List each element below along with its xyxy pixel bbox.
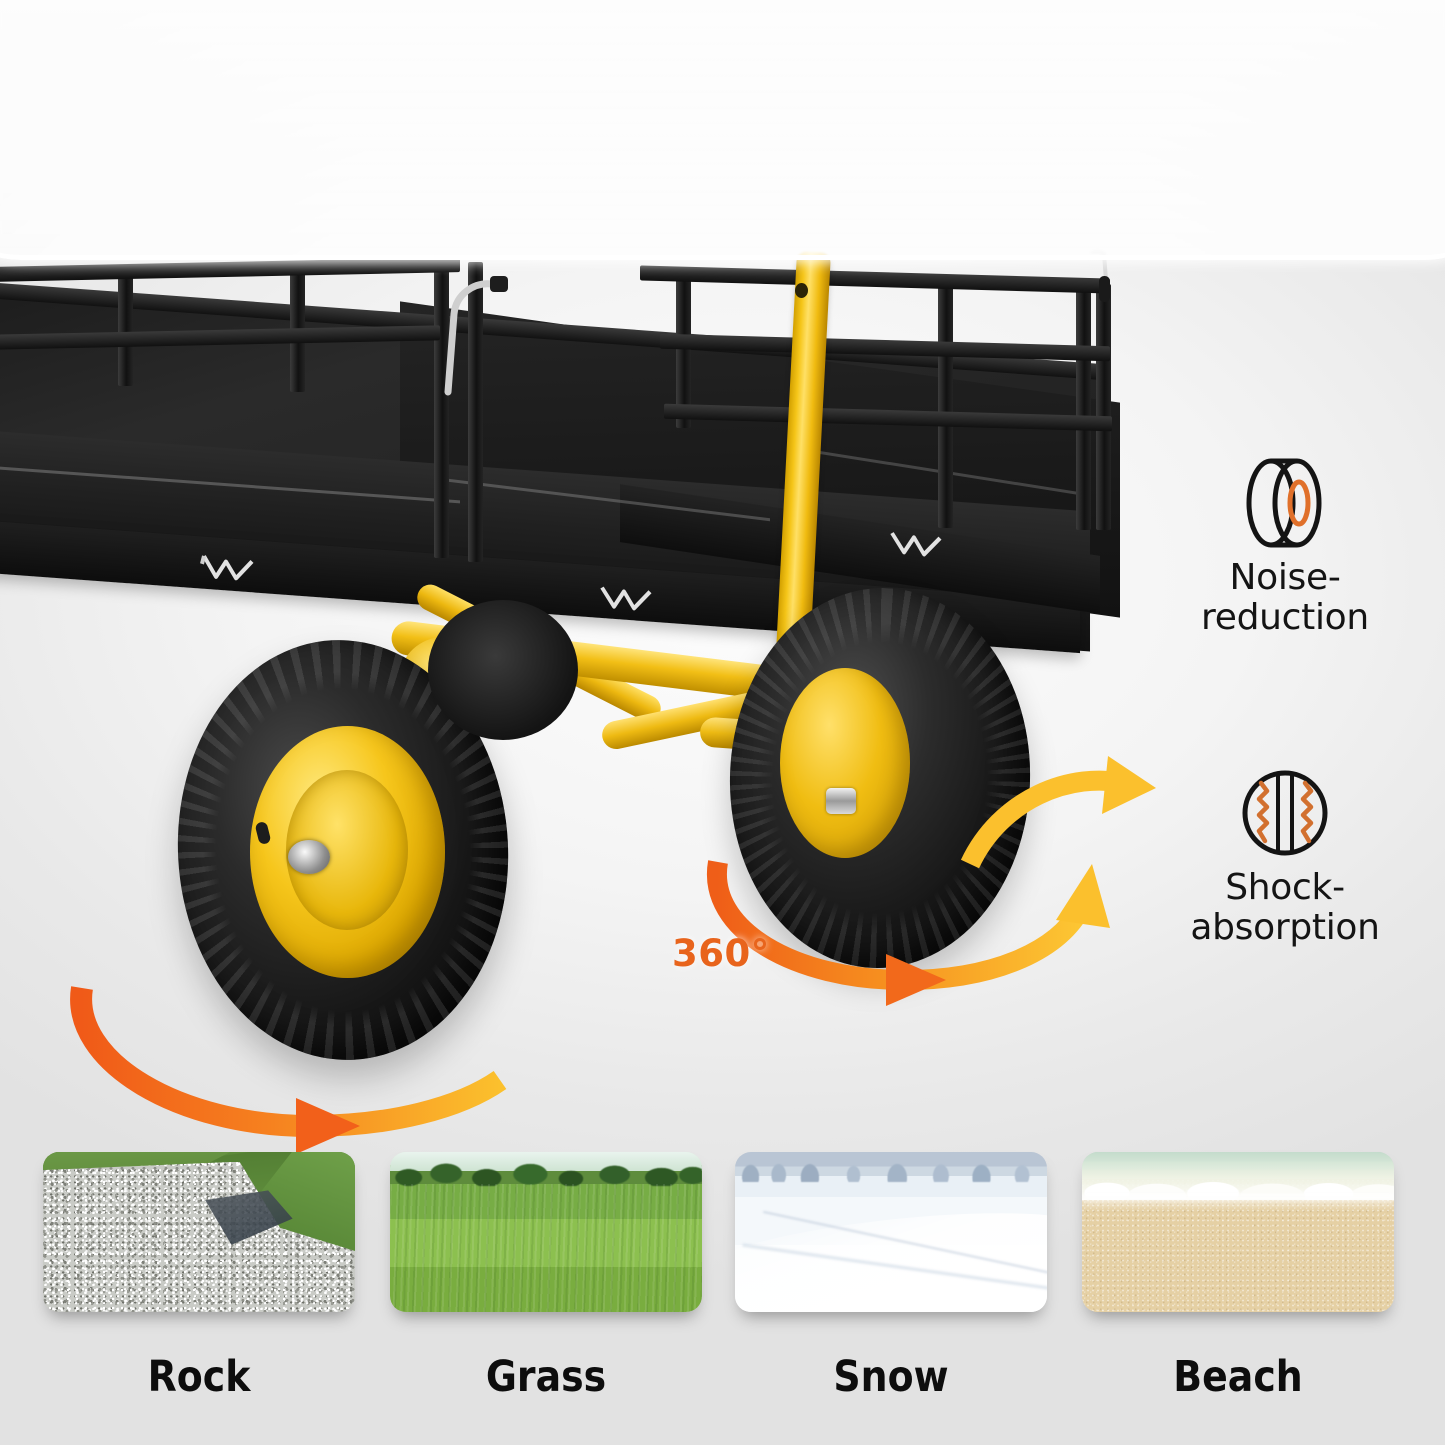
feature-label-shock-absorption: Shock- absorption xyxy=(1160,868,1410,949)
terrain-label-grass: Grass xyxy=(409,1352,684,1402)
terrain-thumbnail-rock xyxy=(43,1152,355,1312)
bed-latch-clip xyxy=(598,579,662,619)
tire-3d-icon xyxy=(1160,448,1410,558)
front-wheel-hubcap xyxy=(288,840,330,874)
rail-post xyxy=(938,278,953,528)
rear-wheel-partial xyxy=(428,600,578,740)
feature-label-line2: reduction xyxy=(1160,598,1410,638)
rotation-arc-right-upper xyxy=(960,740,1190,890)
beach-terrain-art xyxy=(1082,1152,1394,1312)
rotation-arc-left xyxy=(60,930,580,1160)
terrain-label-rock: Rock xyxy=(62,1352,337,1402)
terrain-label-beach: Beach xyxy=(1101,1352,1376,1402)
terrain-label-snow: Snow xyxy=(754,1352,1029,1402)
terrain-gallery: Rock Grass Snow xyxy=(0,1152,1445,1442)
terrain-card-beach: Beach xyxy=(1082,1152,1394,1402)
rail-post xyxy=(290,262,305,392)
feature-noise-reduction: Noise- reduction xyxy=(1160,448,1410,639)
terrain-card-grass: Grass xyxy=(390,1152,702,1402)
terrain-thumbnail-beach xyxy=(1082,1152,1394,1312)
terrain-card-snow: Snow xyxy=(735,1152,1047,1402)
grass-terrain-art xyxy=(390,1152,702,1312)
feature-label-noise-reduction: Noise- reduction xyxy=(1160,558,1410,639)
bed-latch-clip xyxy=(888,525,952,566)
terrain-card-rock: Rock xyxy=(43,1152,355,1402)
header-banner: 13" PNEUMATIC TIRES Anywhere used withou… xyxy=(0,0,1445,260)
shock-spring-icon xyxy=(1160,758,1410,868)
feature-label-line1: Shock- xyxy=(1160,868,1410,908)
rotation-degree-label: 360° xyxy=(672,932,770,975)
bed-latch-clip xyxy=(200,550,264,588)
snow-terrain-art xyxy=(735,1152,1047,1312)
rail-bar-top xyxy=(0,257,460,282)
terrain-thumbnail-snow xyxy=(735,1152,1047,1312)
rail-post xyxy=(118,268,133,386)
feature-label-line1: Noise- xyxy=(1160,558,1410,598)
terrain-thumbnail-grass xyxy=(390,1152,702,1312)
rail-post xyxy=(1096,284,1111,530)
rail-post xyxy=(1076,282,1091,530)
rail-bar-top xyxy=(640,265,1110,293)
feature-shock-absorption: Shock- absorption xyxy=(1160,758,1410,949)
product-feature-graphic: 13" PNEUMATIC TIRES Anywhere used withou… xyxy=(0,0,1445,1445)
side-panel-lever xyxy=(440,268,510,398)
feature-label-line2: absorption xyxy=(1160,908,1410,948)
axle-bolt-nut xyxy=(826,788,856,814)
rock-terrain-art xyxy=(43,1152,355,1312)
